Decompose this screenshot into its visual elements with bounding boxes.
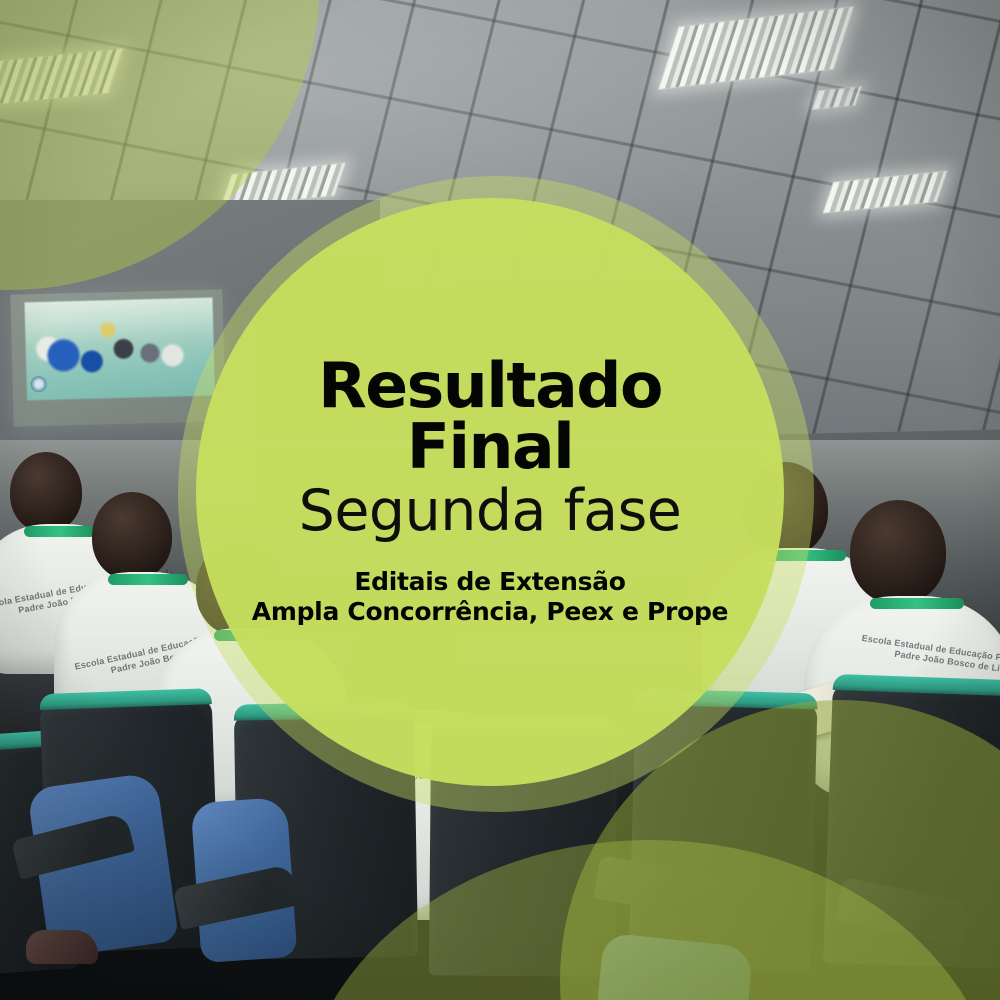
- page-title: Resultado Final: [231, 356, 749, 478]
- headline-badge: Resultado Final Segunda fase Editais de …: [196, 198, 784, 786]
- page-subtitle: Segunda fase: [299, 482, 682, 541]
- poster-canvas: Escola Estadual de Educação Profissional…: [0, 0, 1000, 1000]
- badge-meta-line-2: Ampla Concorrência, Peex e Prope: [252, 597, 728, 628]
- badge-meta: Editais de Extensão Ampla Concorrência, …: [252, 567, 728, 628]
- badge-meta-line-1: Editais de Extensão: [252, 567, 728, 598]
